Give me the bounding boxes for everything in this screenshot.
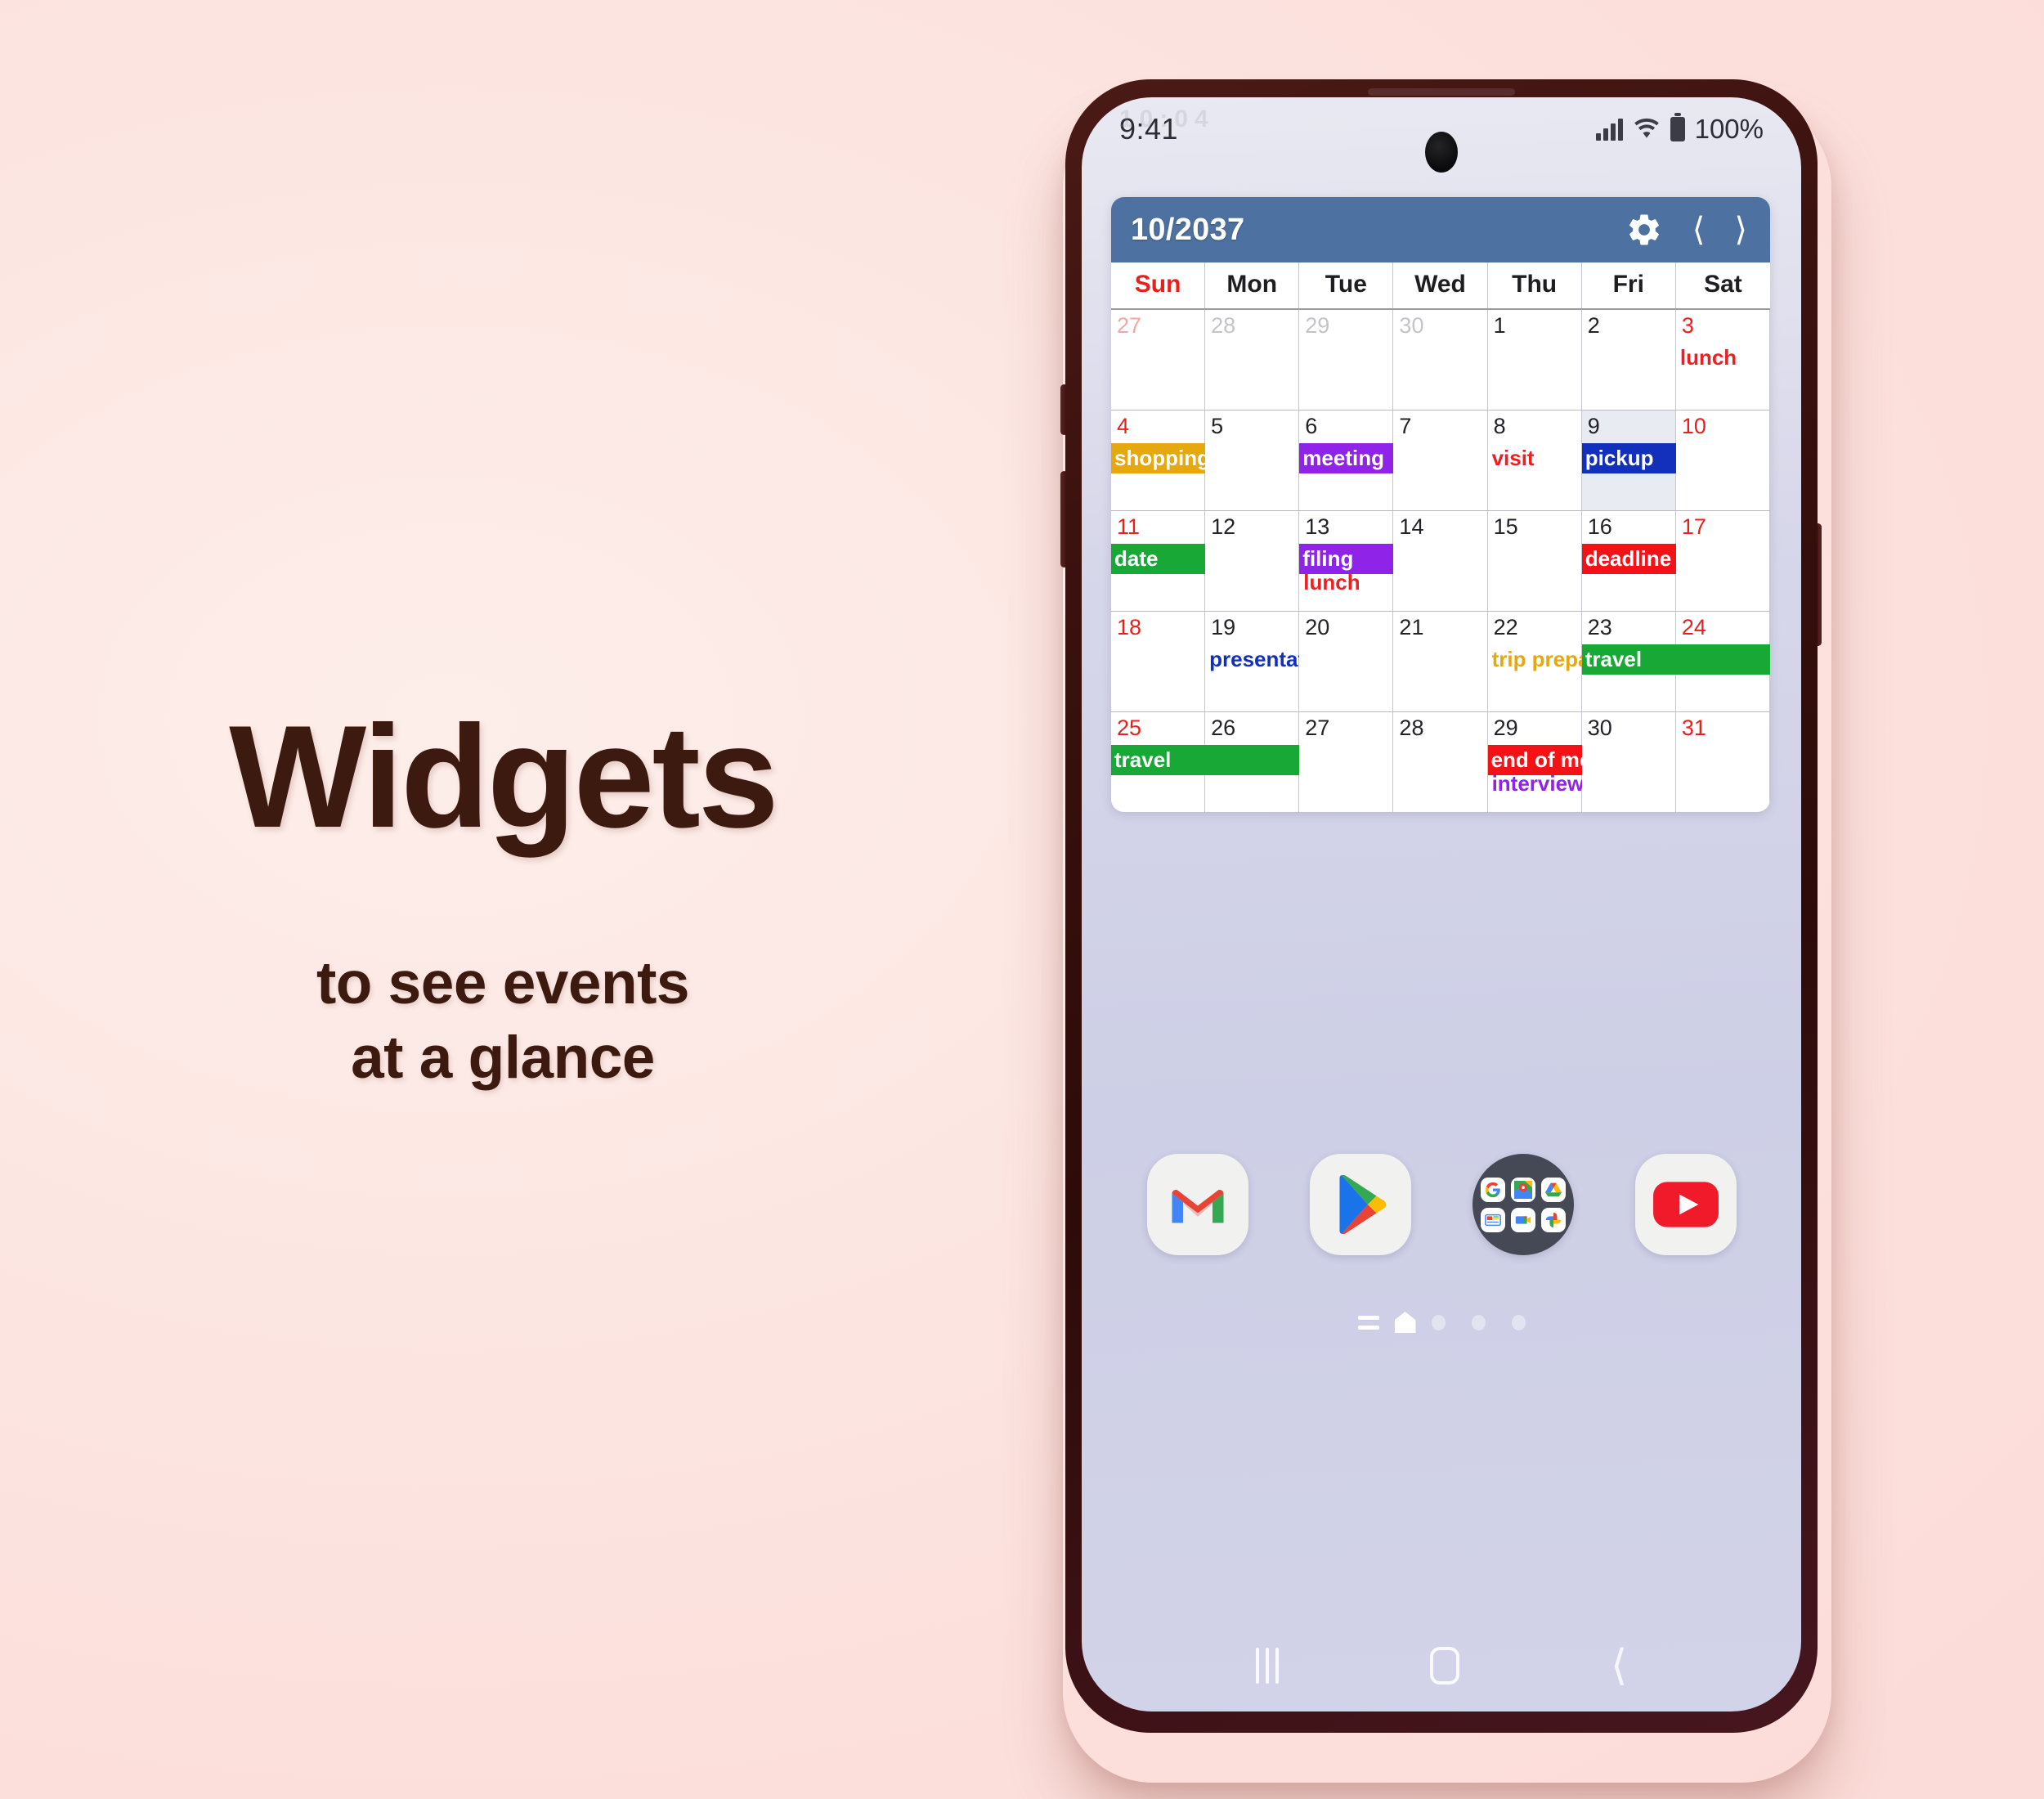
signal-bars-icon [1596, 118, 1623, 141]
calendar-widget-actions: ⟨ ⟩ [1625, 211, 1752, 249]
calendar-event[interactable]: presentati [1205, 644, 1299, 675]
calendar-day-cell[interactable]: 12 [1205, 511, 1299, 611]
home-square-icon[interactable] [1430, 1647, 1459, 1685]
calendar-day-cell[interactable]: 27 [1111, 310, 1205, 410]
day-number: 7 [1399, 415, 1486, 437]
day-number: 28 [1399, 717, 1486, 739]
day-number: 4 [1117, 415, 1204, 437]
day-number: 30 [1588, 717, 1675, 739]
day-number: 1 [1494, 315, 1581, 337]
calendar-day-cell[interactable]: 17 [1676, 511, 1770, 611]
photos-icon [1541, 1208, 1566, 1232]
day-number: 3 [1682, 315, 1769, 337]
calendar-event[interactable]: meeting [1299, 443, 1393, 473]
subtitle-line-1: to see events [316, 946, 689, 1021]
calendar-week-row: 11121314151617datefilinglunchdeadline [1111, 511, 1770, 612]
page-subtitle: to see events at a glance [316, 946, 689, 1096]
day-number: 21 [1399, 617, 1486, 639]
lines-icon[interactable] [1358, 1314, 1379, 1330]
page-dot[interactable] [1512, 1315, 1526, 1330]
day-number: 31 [1682, 717, 1769, 739]
day-header-thu: Thu [1488, 262, 1582, 308]
day-number: 18 [1117, 617, 1204, 639]
phone-frame: 10:04 9:41 100% 10/2037 [1065, 79, 1818, 1733]
calendar-day-cell[interactable]: 10 [1676, 410, 1770, 510]
day-number: 14 [1399, 516, 1486, 538]
calendar-day-cell[interactable]: 15 [1488, 511, 1582, 611]
day-number: 27 [1305, 717, 1392, 739]
android-nav-bar: ⟨ [1082, 1620, 1801, 1712]
calendar-day-cell[interactable]: 20 [1299, 612, 1393, 711]
calendar-event[interactable]: shopping [1111, 443, 1205, 473]
wifi-icon [1633, 118, 1661, 141]
front-camera-punch-hole [1425, 132, 1458, 173]
play-store-icon[interactable] [1310, 1154, 1411, 1255]
meet-icon [1511, 1208, 1535, 1232]
day-number: 17 [1682, 516, 1769, 538]
calendar-widget-header: 10/2037 ⟨ ⟩ [1111, 197, 1770, 262]
calendar-day-cell[interactable]: 30 [1393, 310, 1487, 410]
calendar-event[interactable]: lunch [1676, 343, 1770, 373]
calendar-day-cell[interactable]: 7 [1393, 410, 1487, 510]
chevron-right-icon[interactable]: ⟩ [1734, 213, 1747, 246]
day-header-sun: Sun [1111, 262, 1205, 308]
calendar-day-cell[interactable]: 28 [1205, 310, 1299, 410]
day-header-fri: Fri [1582, 262, 1676, 308]
calendar-day-cell[interactable]: 31 [1676, 712, 1770, 812]
recents-icon[interactable] [1256, 1648, 1279, 1684]
page-dot[interactable] [1472, 1315, 1486, 1330]
day-header-wed: Wed [1393, 262, 1487, 308]
day-number: 16 [1588, 516, 1675, 538]
drive-icon [1541, 1178, 1566, 1202]
maps-icon [1511, 1178, 1535, 1202]
news-icon [1481, 1208, 1505, 1232]
google-icon [1481, 1178, 1505, 1202]
calendar-event[interactable]: trip prepar [1488, 644, 1582, 675]
calendar-day-cell[interactable]: 27 [1299, 712, 1393, 812]
calendar-day-cell[interactable]: 1 [1488, 310, 1582, 410]
calendar-week-row: 18192021222324presentatitrip prepartrave… [1111, 612, 1770, 712]
calendar-day-cell[interactable]: 28 [1393, 712, 1487, 812]
day-number: 12 [1211, 516, 1298, 538]
day-number: 8 [1494, 415, 1581, 437]
day-number: 24 [1682, 617, 1769, 639]
calendar-event[interactable]: deadline [1582, 544, 1676, 574]
calendar-day-header-row: SunMonTueWedThuFriSat [1111, 262, 1770, 310]
subtitle-line-2: at a glance [316, 1021, 689, 1095]
day-number: 13 [1305, 516, 1392, 538]
day-header-mon: Mon [1205, 262, 1299, 308]
day-number: 15 [1494, 516, 1581, 538]
day-number: 9 [1588, 415, 1675, 437]
status-bar-ghost-text: 10:04 [1119, 105, 1215, 133]
gmail-icon[interactable] [1147, 1154, 1248, 1255]
day-number: 26 [1211, 717, 1298, 739]
page-indicator [1082, 1306, 1801, 1339]
chevron-left-icon[interactable]: ⟨ [1692, 213, 1706, 246]
folder-app-grid [1481, 1178, 1566, 1232]
day-number: 25 [1117, 717, 1204, 739]
day-number: 22 [1494, 617, 1581, 639]
day-number: 19 [1211, 617, 1298, 639]
back-chevron-icon[interactable]: ⟨ [1611, 1644, 1627, 1687]
day-number: 5 [1211, 415, 1298, 437]
calendar-week-row: 27282930123lunch [1111, 310, 1770, 410]
day-number: 6 [1305, 415, 1392, 437]
calendar-day-cell[interactable]: 2 [1582, 310, 1676, 410]
calendar-day-cell[interactable]: 14 [1393, 511, 1487, 611]
calendar-event[interactable]: interview [1488, 769, 1582, 799]
day-number: 29 [1305, 315, 1392, 337]
day-number: 20 [1305, 617, 1392, 639]
calendar-event[interactable]: date [1111, 544, 1205, 574]
day-number: 29 [1494, 717, 1581, 739]
page-title: Widgets [229, 704, 777, 850]
day-header-tue: Tue [1299, 262, 1393, 308]
status-bar: 10:04 9:41 100% [1082, 97, 1801, 161]
calendar-day-cell[interactable]: 29 [1299, 310, 1393, 410]
google-folder-icon[interactable] [1472, 1154, 1574, 1255]
battery-percent-label: 100% [1695, 114, 1764, 145]
youtube-icon[interactable] [1635, 1154, 1737, 1255]
day-number: 10 [1682, 415, 1769, 437]
gear-icon[interactable] [1625, 211, 1663, 249]
status-bar-indicators: 100% [1596, 114, 1764, 145]
battery-icon [1670, 117, 1685, 141]
calendar-event[interactable]: visit [1488, 443, 1582, 473]
marketing-copy: Widgets to see events at a glance [0, 0, 1006, 1799]
day-number: 28 [1211, 315, 1298, 337]
day-header-sat: Sat [1676, 262, 1770, 308]
calendar-widget[interactable]: 10/2037 ⟨ ⟩ SunMonTueWedThuFriSat 272829… [1111, 197, 1770, 812]
calendar-week-row: 45678910shoppingmeetingvisitpickup [1111, 410, 1770, 511]
calendar-day-cell[interactable]: 21 [1393, 612, 1487, 711]
calendar-day-cell[interactable]: 30 [1582, 712, 1676, 812]
day-number: 11 [1117, 516, 1204, 538]
phone-screen: 10:04 9:41 100% 10/2037 [1082, 97, 1801, 1712]
calendar-weeks: 27282930123lunch45678910shoppingmeetingv… [1111, 310, 1770, 812]
dock [1082, 1139, 1801, 1270]
day-number: 30 [1399, 315, 1486, 337]
calendar-month-year-label: 10/2037 [1131, 213, 1244, 248]
day-number: 27 [1117, 315, 1204, 337]
page-dot[interactable] [1432, 1315, 1446, 1330]
day-number: 23 [1588, 617, 1675, 639]
calendar-day-cell[interactable]: 18 [1111, 612, 1205, 711]
calendar-event[interactable]: travel [1582, 644, 1770, 675]
day-number: 2 [1588, 315, 1675, 337]
calendar-event[interactable]: lunch [1299, 568, 1393, 598]
calendar-event[interactable]: pickup [1582, 443, 1676, 473]
calendar-week-row: 25262728293031travelend of mointerview [1111, 712, 1770, 812]
calendar-event[interactable]: travel [1111, 745, 1299, 775]
calendar-day-cell[interactable]: 5 [1205, 410, 1299, 510]
